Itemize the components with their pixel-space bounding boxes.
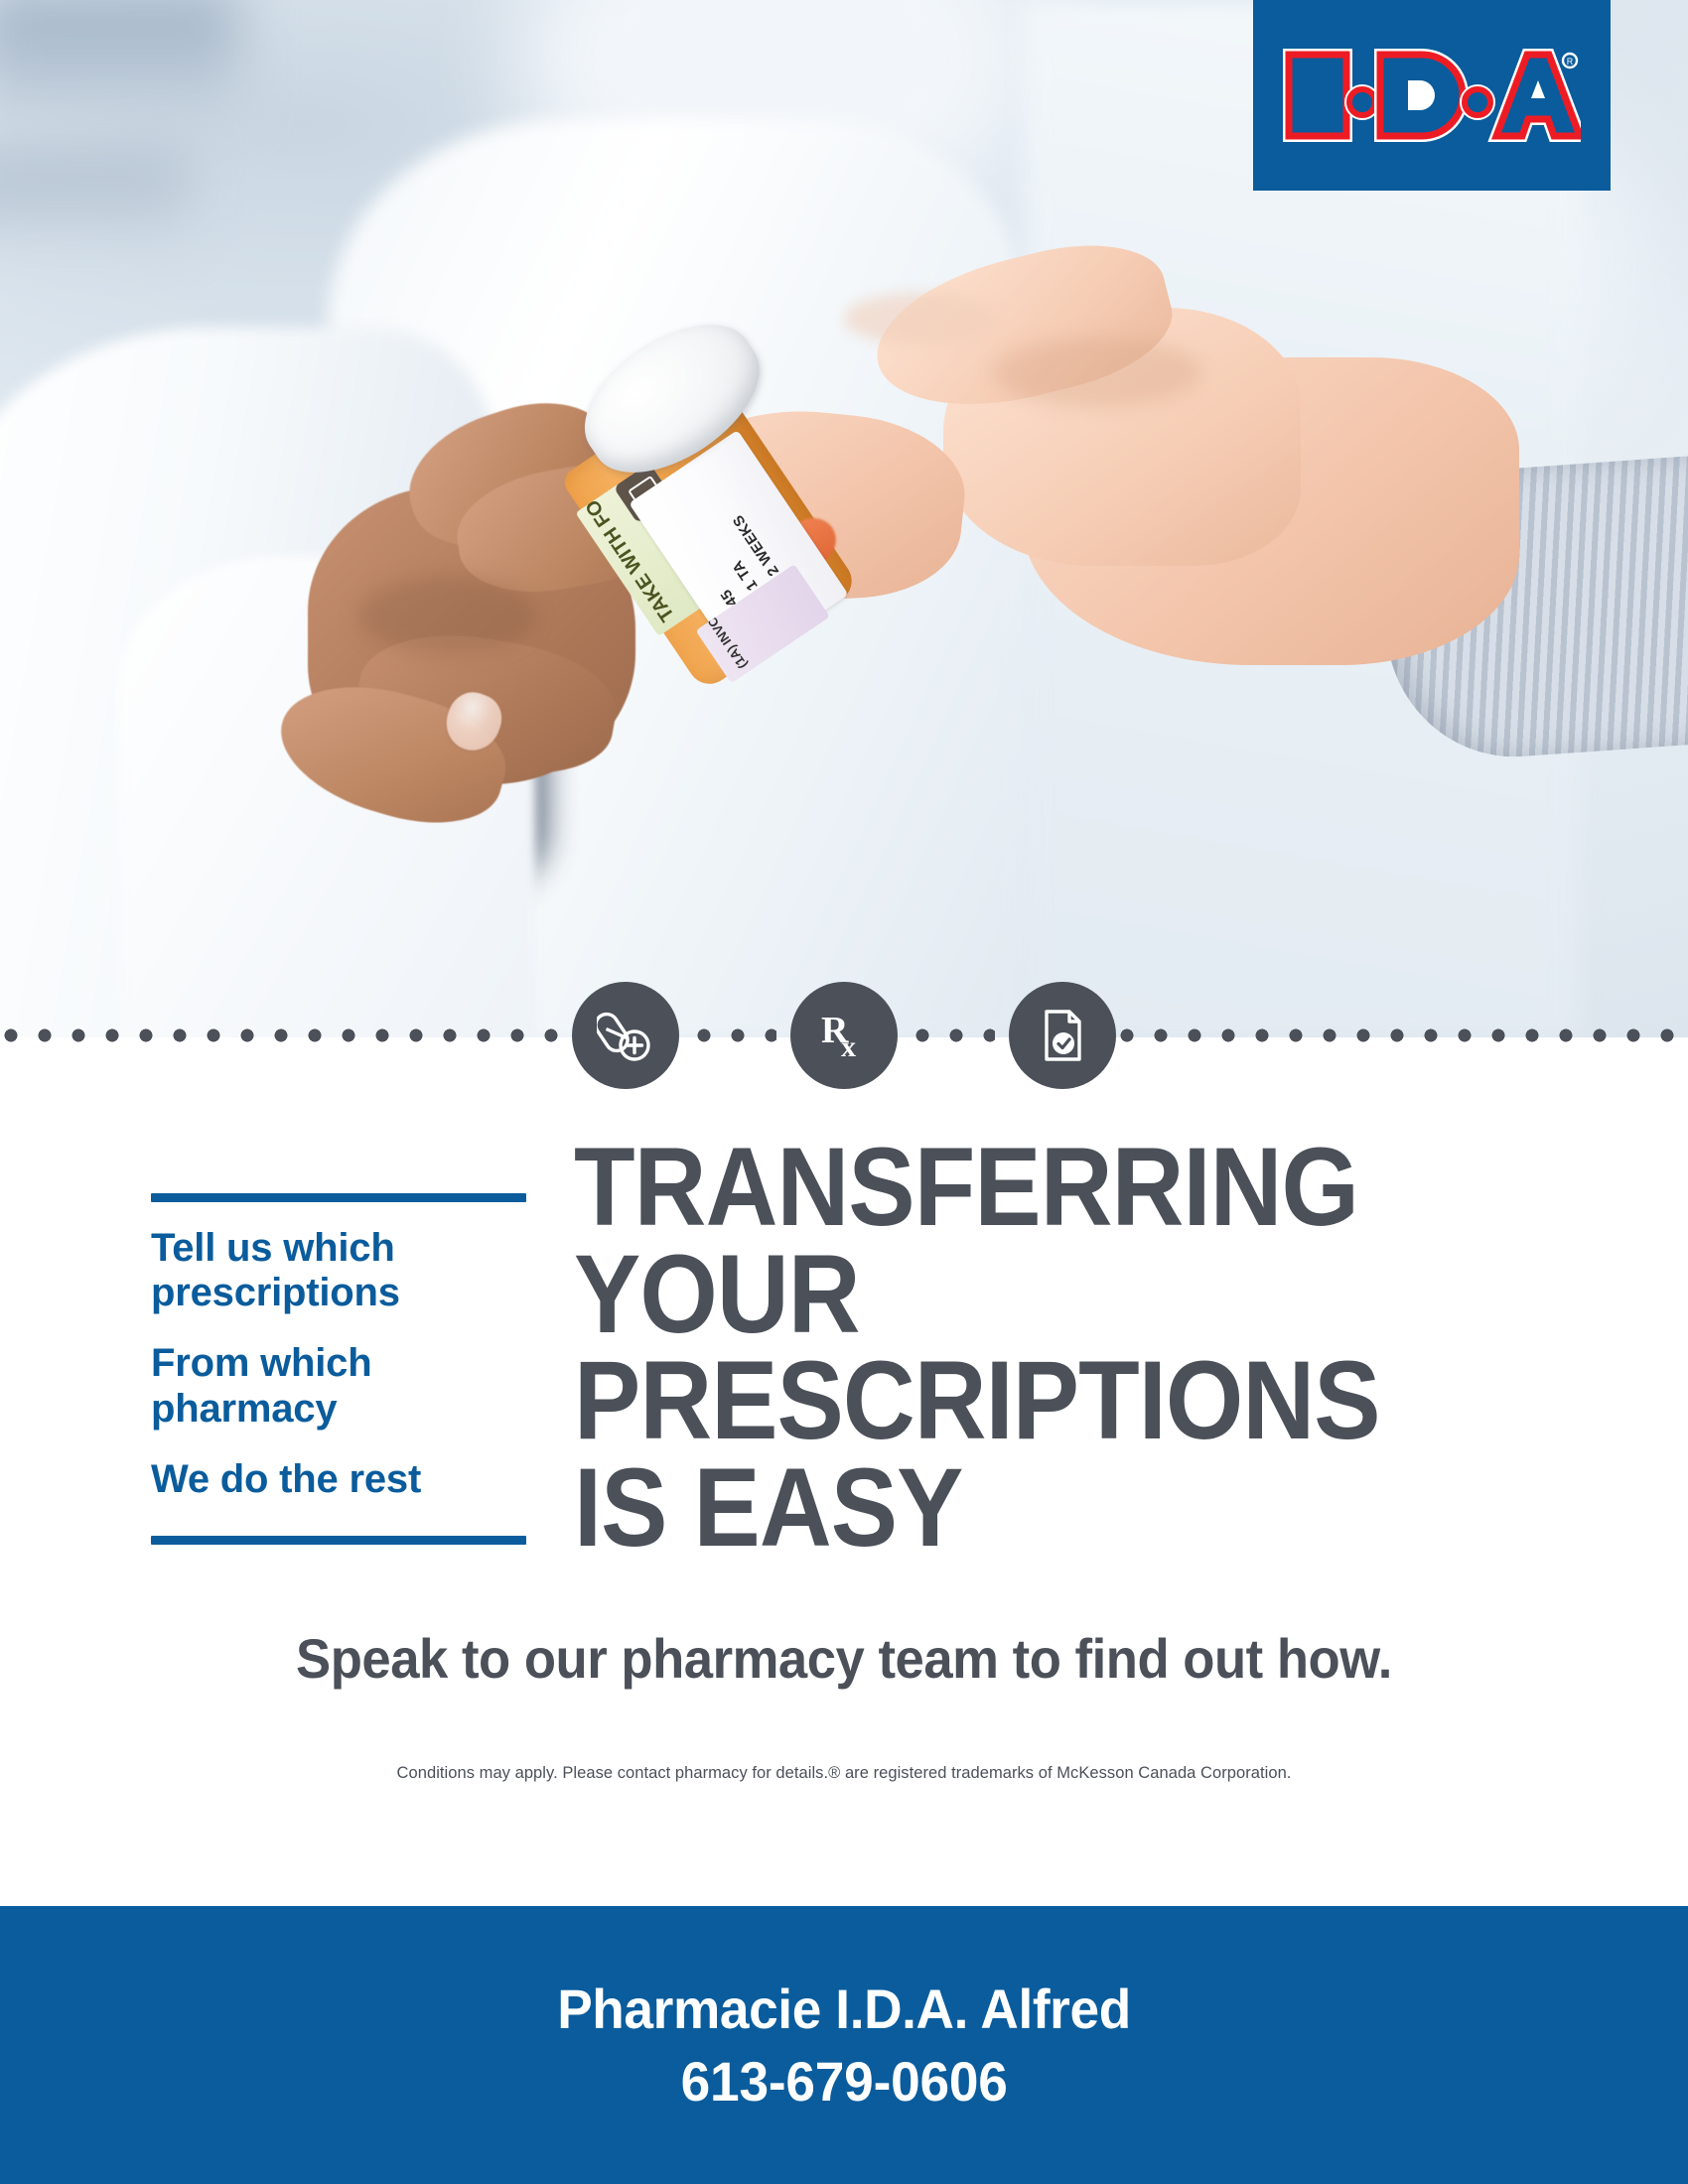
- hero-photo: TAKE WITH FOOD 1867845 TAKE 1 TA ONLY 2 …: [0, 0, 1688, 1037]
- dotted-line-left: [0, 1028, 572, 1042]
- rx-glyph: R x: [815, 1007, 873, 1064]
- step-item-2: From which pharmacy: [151, 1341, 479, 1431]
- dotted-line-mid-2: [912, 1028, 995, 1042]
- pharmacy-phone[interactable]: 613-679-0606: [680, 2049, 1007, 2114]
- icon-divider: R x: [0, 1023, 1688, 1048]
- step-item-1: Tell us which prescriptions: [151, 1226, 479, 1315]
- headline-column: TRANSFERRING YOUR PRESCRIPTIONS IS EASY: [544, 1112, 1470, 1561]
- rx-icon: R x: [790, 982, 898, 1089]
- document-check-icon: [1009, 982, 1116, 1089]
- svg-text:x: x: [841, 1030, 856, 1063]
- svg-text:R: R: [1567, 57, 1574, 67]
- rule-top: [151, 1193, 526, 1202]
- main-content: Tell us which prescriptions From which p…: [0, 1112, 1688, 1783]
- tagline: Speak to our pharmacy team to find out h…: [51, 1626, 1637, 1691]
- ida-logo: R: [1253, 0, 1611, 191]
- pharmacy-name: Pharmacie I.D.A. Alfred: [557, 1977, 1131, 2041]
- dotted-line-mid-1: [693, 1028, 776, 1042]
- background-shelf: [0, 149, 189, 238]
- pills-plus-glyph: [597, 1007, 654, 1064]
- rule-bottom: [151, 1536, 526, 1545]
- step-item-3: We do the rest: [151, 1457, 479, 1502]
- ida-logo-mark: R: [1283, 41, 1581, 150]
- pills-plus-icon: [572, 982, 679, 1089]
- document-check-glyph: [1034, 1007, 1091, 1064]
- steps-list: Tell us which prescriptions From which p…: [151, 1202, 544, 1502]
- steps-column: Tell us which prescriptions From which p…: [0, 1112, 544, 1545]
- background-shelf: [0, 0, 238, 109]
- dotted-line-right: [1116, 1028, 1688, 1042]
- disclaimer: Conditions may apply. Please contact pha…: [0, 1764, 1688, 1783]
- footer-bar: Pharmacie I.D.A. Alfred 613-679-0606: [0, 1906, 1688, 2184]
- page-title: TRANSFERRING YOUR PRESCRIPTIONS IS EASY: [574, 1134, 1380, 1561]
